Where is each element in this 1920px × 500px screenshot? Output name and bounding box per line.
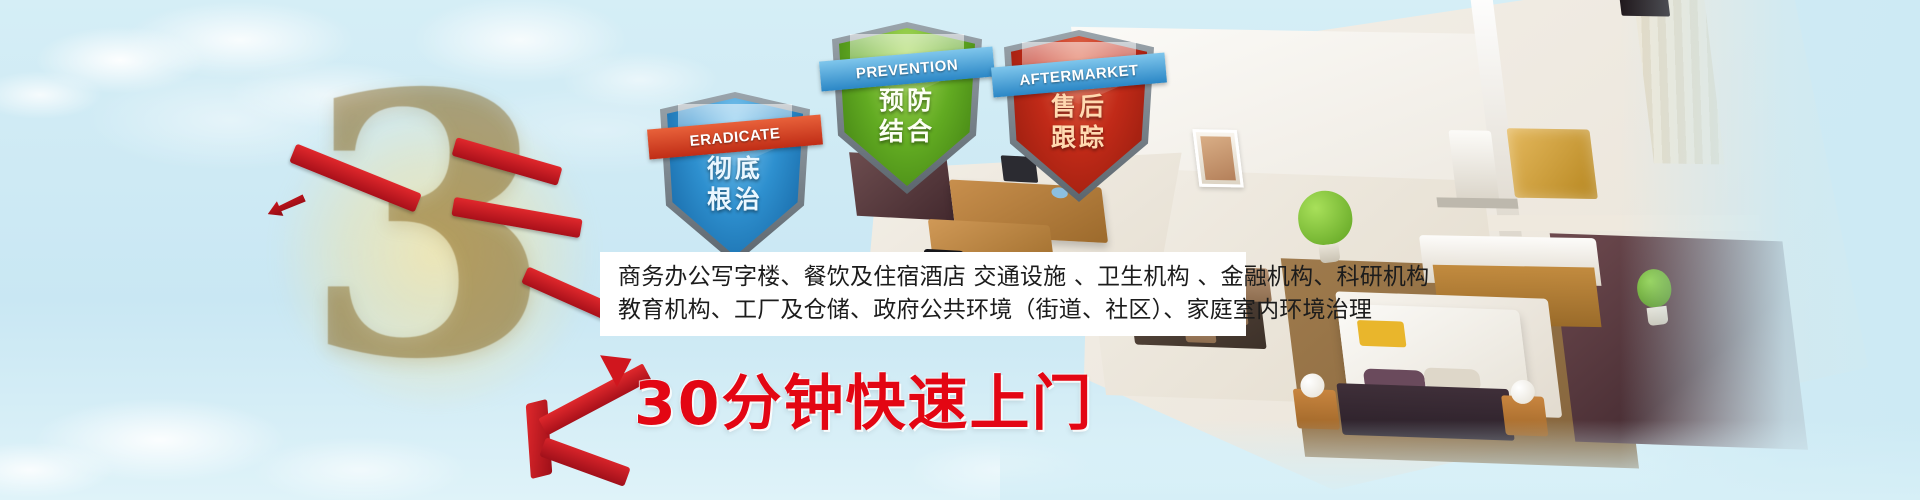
badge-line-2: 结合 [832,117,982,148]
badge-line-2: 跟踪 [1004,123,1154,154]
promo-banner: 3 ERADICATE 彻底 根治 PREVENTION 预防 结合 AFTER… [0,0,1920,500]
range-hood [1448,130,1499,204]
badge-chinese-text: 售后 跟踪 [1004,92,1154,154]
badge-chinese-text: 预防 结合 [832,86,982,148]
bed-blanket [1357,320,1407,347]
badge-chinese-text: 彻底 根治 [660,154,810,216]
badge-eradicate: ERADICATE 彻底 根治 [660,92,810,264]
headline-text: 30分钟快速上门 [634,355,1094,442]
service-scope-panel: 商务办公写字楼、餐饮及住宿酒店 交通设施 、卫生机构 、金融机构、科研机构 教育… [600,252,1246,336]
kitchen-upper-cabinet [1507,128,1598,199]
badge-line-1: 预防 [832,86,982,117]
badge-aftermarket: AFTERMARKET 售后 跟踪 [1004,30,1154,202]
badge-line-2: 根治 [660,185,810,216]
service-scope-line-2: 教育机构、工厂及仓储、政府公共环境（街道、社区）、家庭室内环境治理 [618,294,1246,327]
potted-plant [1295,188,1357,266]
service-scope-line-1: 商务办公写字楼、餐饮及住宿酒店 交通设施 、卫生机构 、金融机构、科研机构 [618,261,1246,294]
range-hood-base [1436,197,1518,208]
badge-prevention: PREVENTION 预防 结合 [832,22,982,194]
bottom-fade-overlay [1000,420,1920,500]
badge-line-1: 彻底 [660,154,810,185]
badge-line-1: 售后 [1004,92,1154,123]
